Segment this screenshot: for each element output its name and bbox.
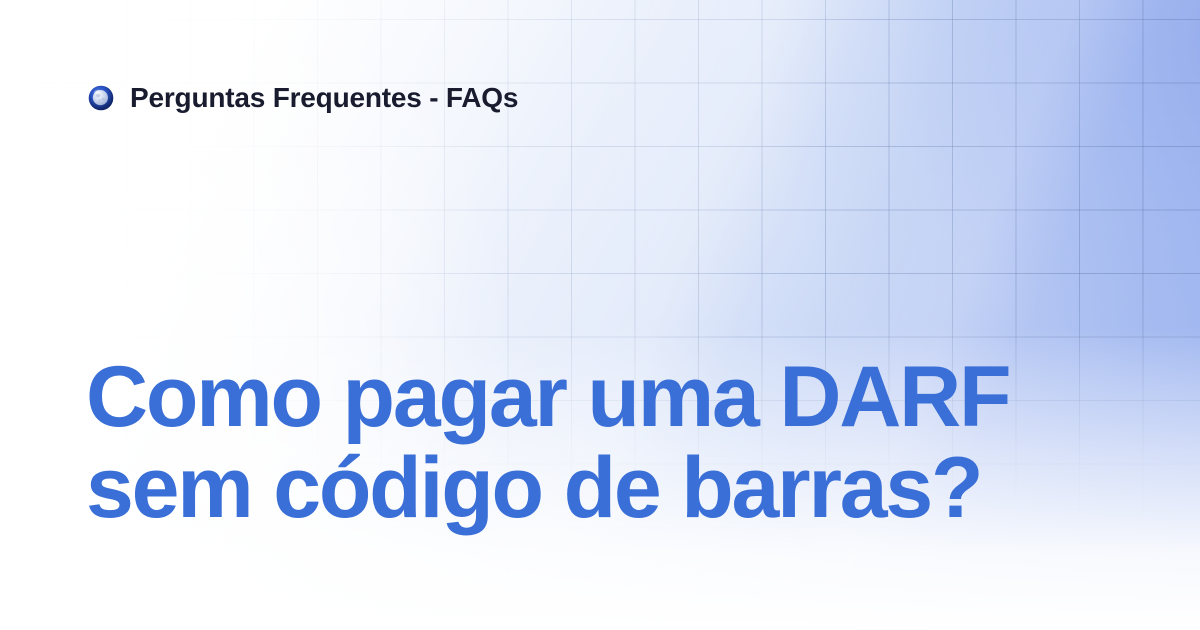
eyebrow-label: Perguntas Frequentes - FAQs <box>130 84 518 112</box>
eyebrow-badge: Perguntas Frequentes - FAQs <box>88 84 518 112</box>
page-title: Como pagar uma DARF sem código de barras… <box>86 352 1140 534</box>
og-share-card: Perguntas Frequentes - FAQs Como pagar u… <box>0 0 1200 630</box>
blue-sphere-icon <box>88 85 114 111</box>
card-content: Perguntas Frequentes - FAQs Como pagar u… <box>0 0 1200 630</box>
